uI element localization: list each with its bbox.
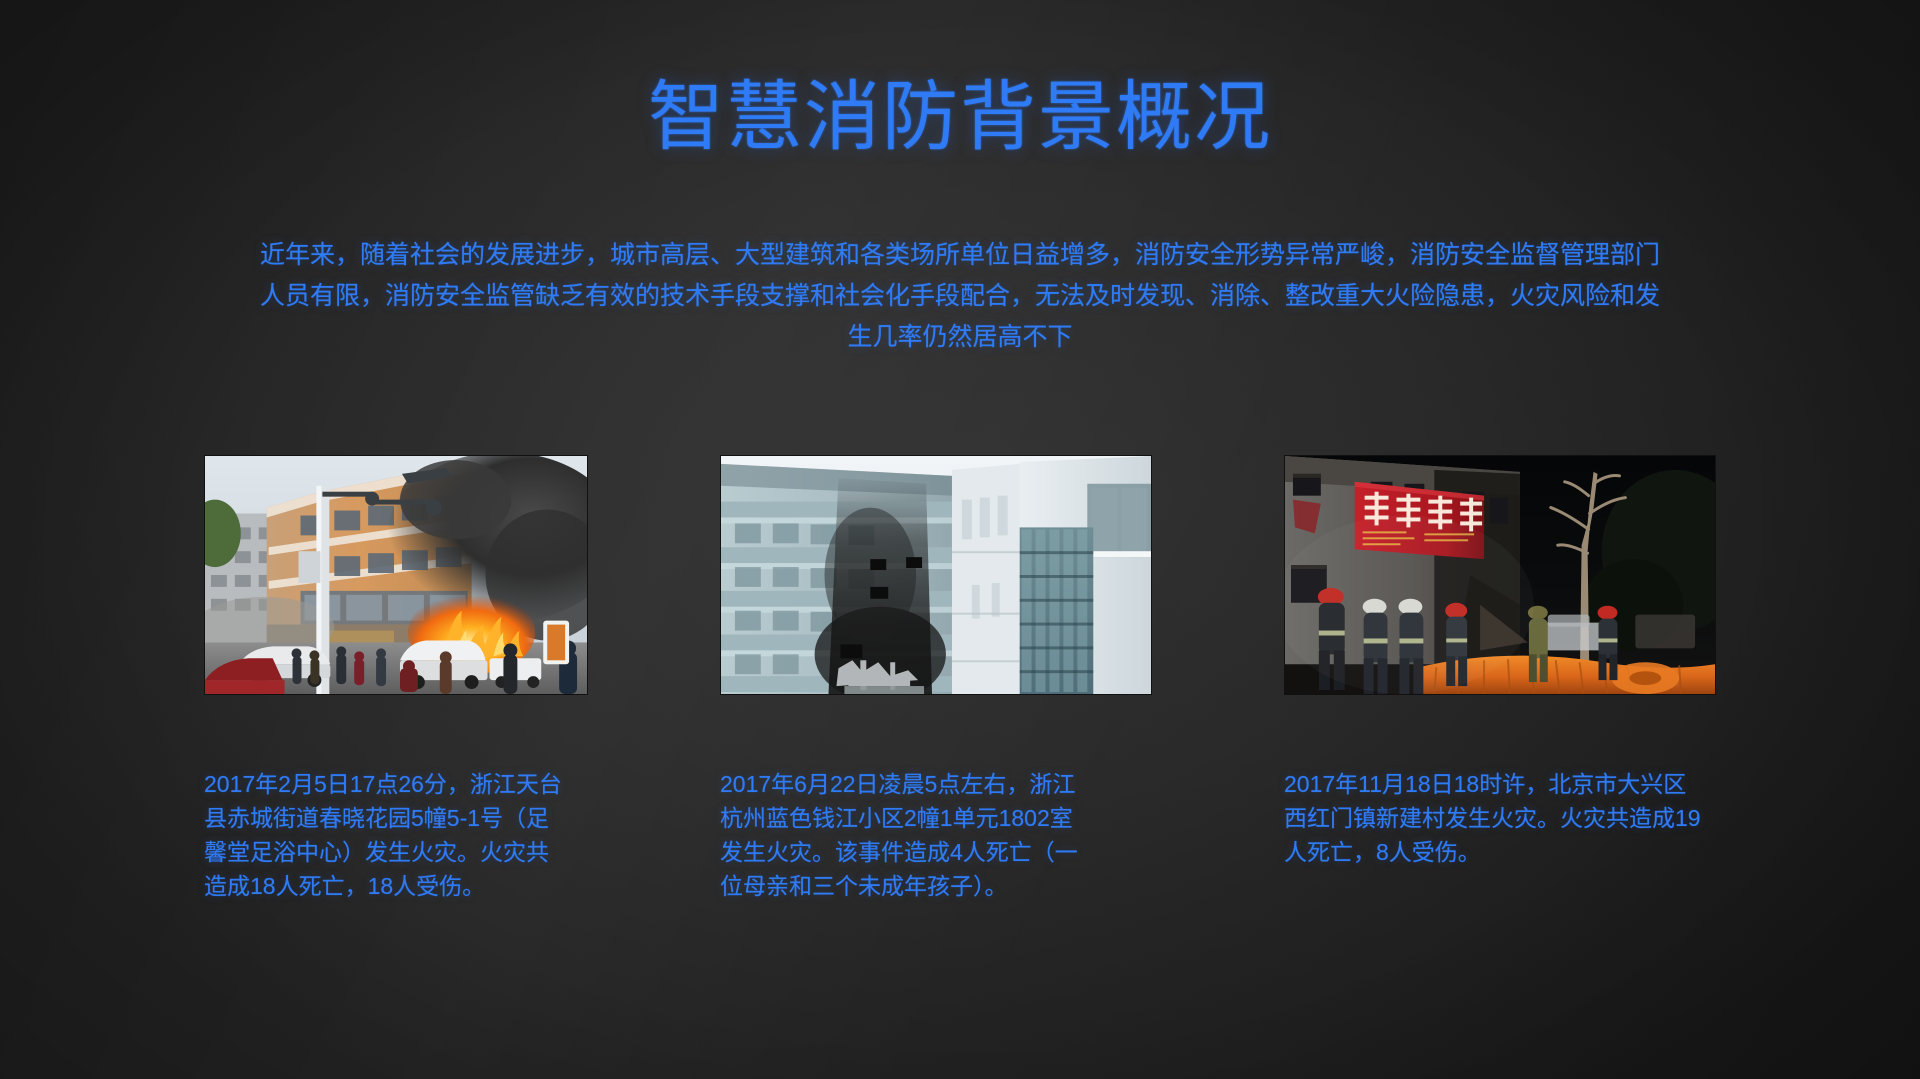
case-card-list: 2017年2月5日17点26分，浙江天台县赤城街道春晓花园5幢5-1号（足馨堂足… [0, 455, 1920, 903]
slide-root: 智慧消防背景概况 近年来，随着社会的发展进步，城市高层、大型建筑和各类场所单位日… [0, 0, 1920, 1079]
intro-line-3: 生几率仍然居高不下 [186, 317, 1734, 358]
case-caption-tiantai: 2017年2月5日17点26分，浙江天台县赤城街道春晓花园5幢5-1号（足馨堂足… [204, 767, 564, 903]
case-caption-hangzhou: 2017年6月22日凌晨5点左右，浙江杭州蓝色钱江小区2幢1单元1802室发生火… [720, 767, 1092, 903]
case-photo-daxing [1284, 455, 1716, 695]
case-photo-hangzhou [720, 455, 1152, 695]
case-card-tiantai: 2017年2月5日17点26分，浙江天台县赤城街道春晓花园5幢5-1号（足馨堂足… [204, 455, 588, 903]
case-caption-daxing: 2017年11月18日18时许，北京市大兴区西红门镇新建村发生火灾。火灾共造成1… [1284, 767, 1704, 869]
case-photo-tiantai [204, 455, 588, 695]
intro-line-2: 人员有限，消防安全监管缺乏有效的技术手段支撑和社会化手段配合，无法及时发现、消除… [186, 276, 1734, 317]
page-title: 智慧消防背景概况 [0, 78, 1920, 158]
intro-paragraph: 近年来，随着社会的发展进步，城市高层、大型建筑和各类场所单位日益增多，消防安全形… [186, 235, 1734, 358]
intro-line-1: 近年来，随着社会的发展进步，城市高层、大型建筑和各类场所单位日益增多，消防安全形… [186, 235, 1734, 276]
case-card-hangzhou: 2017年6月22日凌晨5点左右，浙江杭州蓝色钱江小区2幢1单元1802室发生火… [720, 455, 1152, 903]
case-card-daxing: 2017年11月18日18时许，北京市大兴区西红门镇新建村发生火灾。火灾共造成1… [1284, 455, 1716, 903]
